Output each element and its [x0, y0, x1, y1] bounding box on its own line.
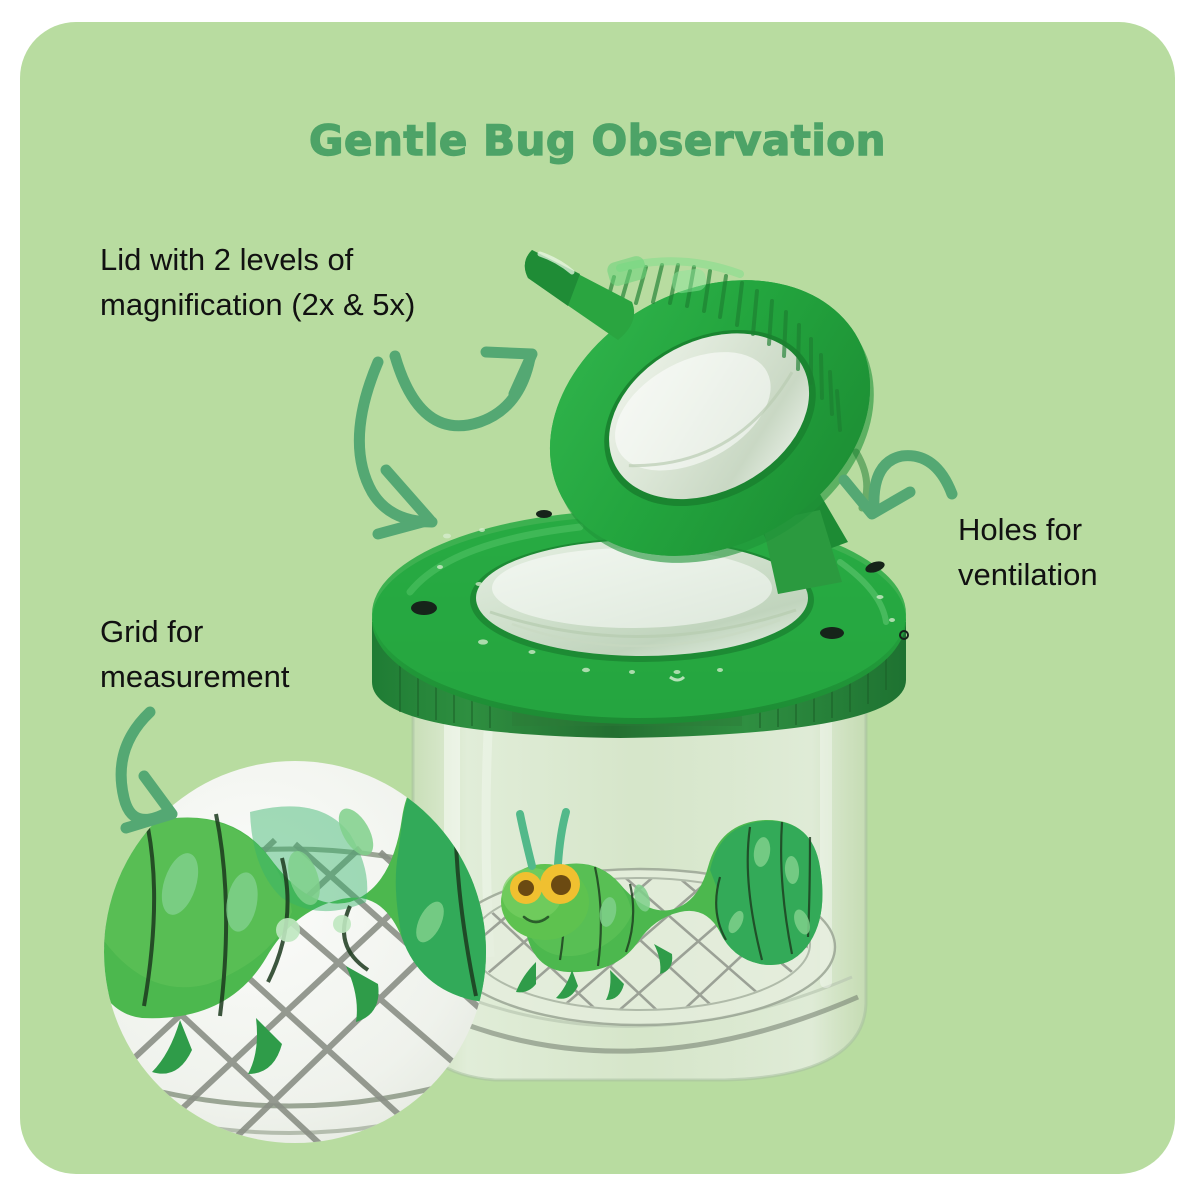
- callout-ventilation-holes: Holes for ventilation: [958, 508, 1175, 598]
- callout-measurement-grid: Grid for measurement: [100, 610, 400, 700]
- arrow-grid: [121, 712, 172, 828]
- product-illustration: [20, 22, 1175, 1174]
- page-title: Gentle Bug Observation: [20, 116, 1175, 165]
- infographic-card: Gentle Bug Observation Lid with 2 levels…: [20, 22, 1175, 1174]
- arrow-lid-lower: [359, 362, 432, 534]
- callout-lid-magnification: Lid with 2 levels of magnification (2x &…: [100, 238, 520, 328]
- arrow-lid-upper: [395, 352, 532, 426]
